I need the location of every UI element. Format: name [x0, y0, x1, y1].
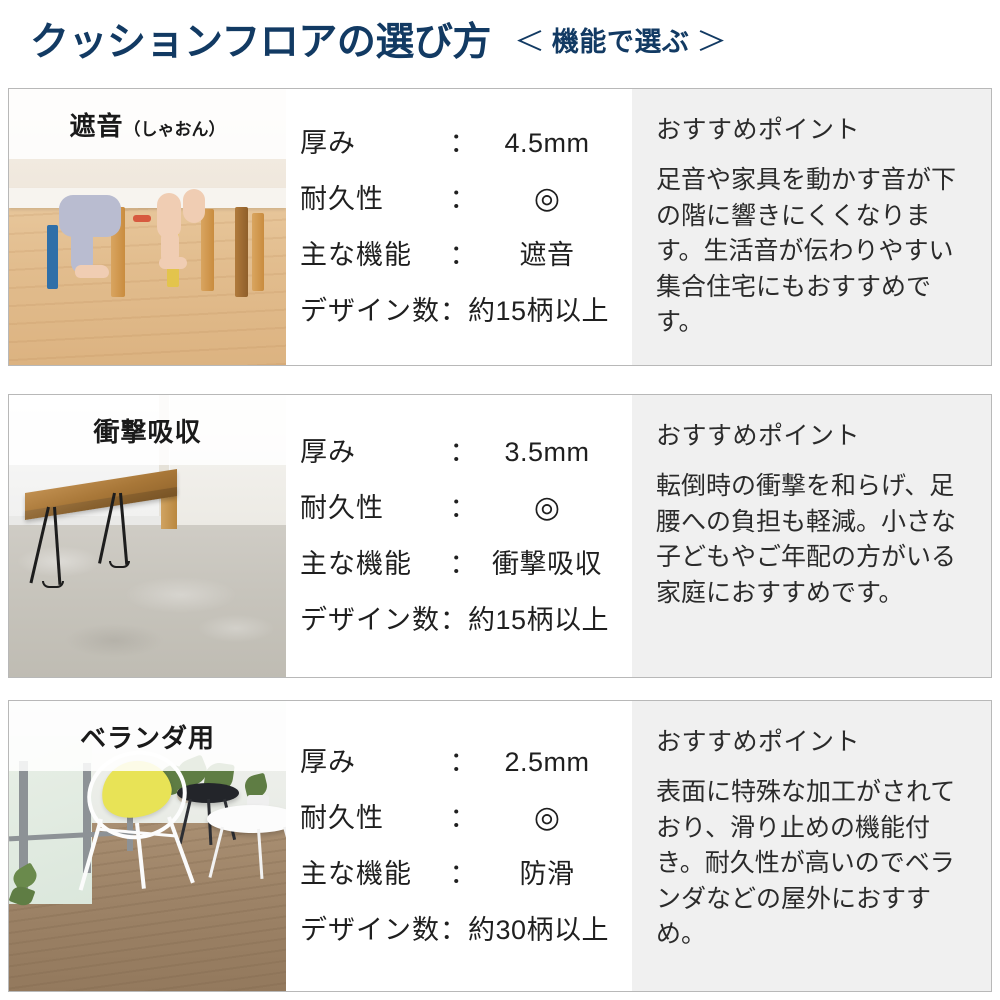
photo-label-main: 遮音 — [69, 106, 123, 143]
spec-row-durability: 耐久性 ： ◎ — [300, 171, 632, 227]
photo-label-ruby: （しゃおん） — [124, 115, 226, 140]
spec-row-function: 主な機能 ： 衝撃吸収 — [300, 536, 632, 592]
card-photo: ベランダ用 — [9, 701, 286, 991]
recommendation-heading: おすすめポイント — [656, 421, 969, 451]
recommendation-panel: おすすめポイント 足音や家具を動かす音が下の階に響きにくくなります。生活音が伝わ… — [632, 89, 991, 365]
spec-colon: ： — [442, 495, 484, 522]
spec-key-thickness: 厚み — [300, 130, 442, 157]
spec-colon: ： — [442, 861, 484, 888]
photo-label-main: ベランダ用 — [80, 718, 215, 755]
spec-value-function: 衝撃吸収 — [484, 551, 632, 578]
spec-key-design-count: デザイン数： — [300, 917, 468, 944]
spec-key-durability: 耐久性 — [300, 186, 442, 213]
spec-row-durability: 耐久性 ： ◎ — [300, 480, 632, 536]
spec-row-function: 主な機能 ： 防滑 — [300, 846, 632, 902]
spec-value-thickness: 3.5mm — [484, 439, 632, 466]
spec-colon: ： — [442, 749, 484, 776]
spec-row-function: 主な機能 ： 遮音 — [300, 227, 632, 283]
spec-key-thickness: 厚み — [300, 439, 442, 466]
spec-value-durability: ◎ — [484, 803, 632, 833]
spec-key-function: 主な機能 — [300, 242, 442, 269]
subtitle-group: ＜ 機能で選ぶ ＞ — [507, 29, 735, 56]
product-card: ベランダ用 厚み ： 2.5mm 耐久性 ： ◎ 主な機能 ： 防滑 — [8, 700, 992, 992]
spec-colon: ： — [442, 805, 484, 832]
spec-value-function: 遮音 — [484, 242, 632, 269]
infographic-page: クッションフロアの選び方 ＜ 機能で選ぶ ＞ — [0, 0, 1000, 1000]
photo-label-band: 遮音 （しゃおん） — [9, 89, 286, 159]
spec-value-thickness: 2.5mm — [484, 749, 632, 776]
spec-row-thickness: 厚み ： 2.5mm — [300, 734, 632, 790]
spec-value-durability: ◎ — [484, 493, 632, 523]
spec-row-design-count: デザイン数： 約15柄以上 — [300, 283, 632, 339]
recommendation-panel: おすすめポイント 転倒時の衝撃を和らげ、足腰への負担も軽減。小さな子どもやご年配… — [632, 395, 991, 677]
spec-key-function: 主な機能 — [300, 861, 442, 888]
spec-colon: ： — [442, 186, 484, 213]
card-photo: 衝撃吸収 — [9, 395, 286, 677]
spec-row-durability: 耐久性 ： ◎ — [300, 790, 632, 846]
spec-key-durability: 耐久性 — [300, 495, 442, 522]
spec-row-design-count: デザイン数： 約30柄以上 — [300, 902, 632, 958]
spec-table: 厚み ： 3.5mm 耐久性 ： ◎ 主な機能 ： 衝撃吸収 デザイン数： 約1… — [286, 395, 632, 677]
spec-colon: ： — [442, 242, 484, 269]
photo-label: 遮音 （しゃおん） — [69, 106, 225, 143]
spec-key-design-count: デザイン数： — [300, 607, 468, 634]
spec-row-thickness: 厚み ： 3.5mm — [300, 424, 632, 480]
spec-key-durability: 耐久性 — [300, 805, 442, 832]
recommendation-body: 足音や家具を動かす音が下の階に響きにくくなります。生活音が伝わりやすい集合住宅に… — [656, 163, 969, 341]
product-card: 遮音 （しゃおん） 厚み ： 4.5mm 耐久性 ： ◎ 主な機能 ： 遮音 — [8, 88, 992, 366]
card-photo: 遮音 （しゃおん） — [9, 89, 286, 365]
bracket-right-icon: ＞ — [696, 29, 727, 56]
spec-value-durability: ◎ — [484, 184, 632, 214]
page-title: クッションフロアの選び方 — [30, 23, 491, 62]
spec-value-design-count: 約15柄以上 — [468, 298, 609, 325]
recommendation-heading: おすすめポイント — [656, 115, 969, 145]
spec-value-design-count: 約30柄以上 — [468, 917, 609, 944]
spec-key-design-count: デザイン数： — [300, 298, 468, 325]
recommendation-body: 転倒時の衝撃を和らげ、足腰への負担も軽減。小さな子どもやご年配の方がいる家庭にお… — [656, 469, 969, 611]
spec-colon: ： — [442, 130, 484, 157]
recommendation-panel: おすすめポイント 表面に特殊な加工がされており、滑り止めの機能付き。耐久性が高い… — [632, 701, 991, 991]
spec-value-design-count: 約15柄以上 — [468, 607, 609, 634]
spec-colon: ： — [442, 551, 484, 578]
photo-label: ベランダ用 — [80, 718, 215, 755]
spec-key-function: 主な機能 — [300, 551, 442, 578]
photo-label: 衝撃吸収 — [93, 412, 201, 449]
spec-key-thickness: 厚み — [300, 749, 442, 776]
spec-table: 厚み ： 4.5mm 耐久性 ： ◎ 主な機能 ： 遮音 デザイン数： 約15柄… — [286, 89, 632, 365]
photo-label-main: 衝撃吸収 — [93, 412, 201, 449]
photo-label-band: ベランダ用 — [9, 701, 286, 771]
photo-label-band: 衝撃吸収 — [9, 395, 286, 465]
spec-colon: ： — [442, 439, 484, 466]
page-header: クッションフロアの選び方 ＜ 機能で選ぶ ＞ — [0, 0, 1000, 84]
spec-row-thickness: 厚み ： 4.5mm — [300, 115, 632, 171]
product-card: 衝撃吸収 厚み ： 3.5mm 耐久性 ： ◎ 主な機能 ： 衝撃吸収 — [8, 394, 992, 678]
recommendation-body: 表面に特殊な加工がされており、滑り止めの機能付き。耐久性が高いのでベランダなどの… — [656, 775, 969, 953]
recommendation-heading: おすすめポイント — [656, 727, 969, 757]
bracket-left-icon: ＜ — [514, 29, 545, 56]
spec-value-thickness: 4.5mm — [484, 130, 632, 157]
spec-row-design-count: デザイン数： 約15柄以上 — [300, 592, 632, 648]
page-subtitle: 機能で選ぶ — [552, 29, 690, 56]
spec-table: 厚み ： 2.5mm 耐久性 ： ◎ 主な機能 ： 防滑 デザイン数： 約30柄… — [286, 701, 632, 991]
spec-value-function: 防滑 — [484, 861, 632, 888]
